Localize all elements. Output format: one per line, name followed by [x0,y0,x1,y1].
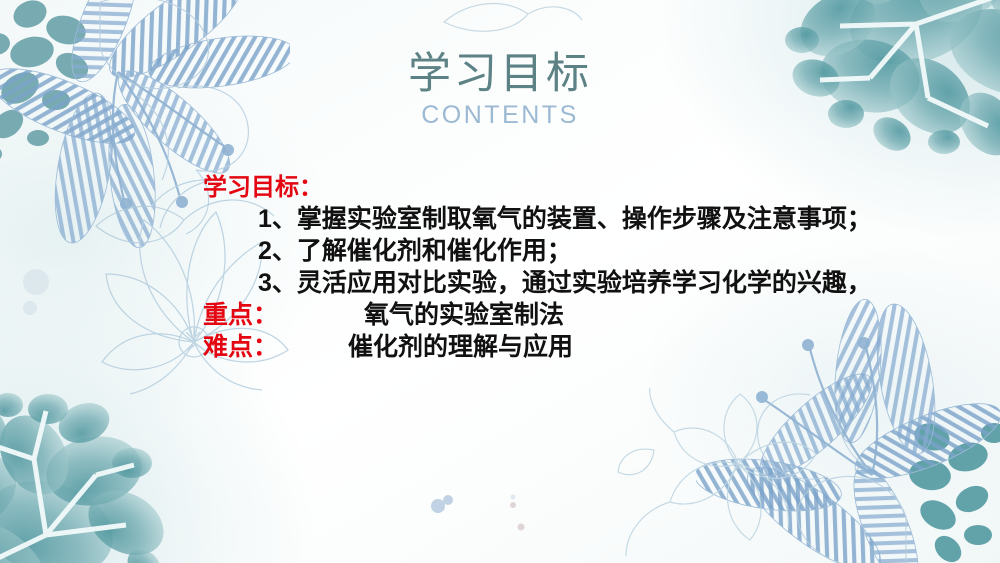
objectives-heading: 学习目标： [0,171,1000,203]
page-subtitle: CONTENTS [0,101,1000,130]
objectives-heading-label: 学习目标： [203,173,323,201]
objective-item-1: 1、掌握实验室制取氧气的装置、操作步骤及注意事项； [0,203,1000,235]
difficulty-text: 催化剂的理解与应用 [348,332,573,361]
keypoint-row: 重点：氧气的实验室制法 [0,299,1000,331]
objective-number-2: 2 [258,237,272,265]
tendril-top-center [436,0,586,52]
objective-mark-2: 、 [272,236,297,265]
objective-number-1: 1 [258,205,272,233]
keypoint-label: 重点： [203,300,278,329]
slide-canvas: 学习目标 CONTENTS 学习目标： 1、掌握实验室制取氧气的装置、操作步骤及… [0,0,1000,563]
blossom-line-art-center-right [578,388,838,563]
objective-item-3: 3、灵活应用对比实验，通过实验培养学习化学的兴趣， [0,267,1000,299]
leaf-cluster-bottom-right [886,413,1000,563]
objective-text-3: 灵活应用对比实验，通过实验培养学习化学的兴趣， [297,268,872,297]
difficulty-label: 难点： [203,332,278,361]
objective-text-2: 了解催化剂和催化作用； [297,236,572,265]
difficulty-row: 难点：催化剂的理解与应用 [0,331,1000,363]
title-block: 学习目标 CONTENTS [0,52,1000,130]
objective-mark-1: 、 [272,204,297,233]
watercolor-flower-bottom-left [0,343,244,563]
content-block: 学习目标： 1、掌握实验室制取氧气的装置、操作步骤及注意事项； 2、了解催化剂和… [0,171,1000,363]
objective-mark-3: 、 [272,268,297,297]
page-title: 学习目标 [0,52,1000,97]
objective-item-2: 2、了解催化剂和催化作用； [0,235,1000,267]
objective-text-1: 掌握实验室制取氧气的装置、操作步骤及注意事项； [297,204,872,233]
keypoint-text: 氧气的实验室制法 [364,300,564,329]
objective-number-3: 3 [258,269,272,297]
